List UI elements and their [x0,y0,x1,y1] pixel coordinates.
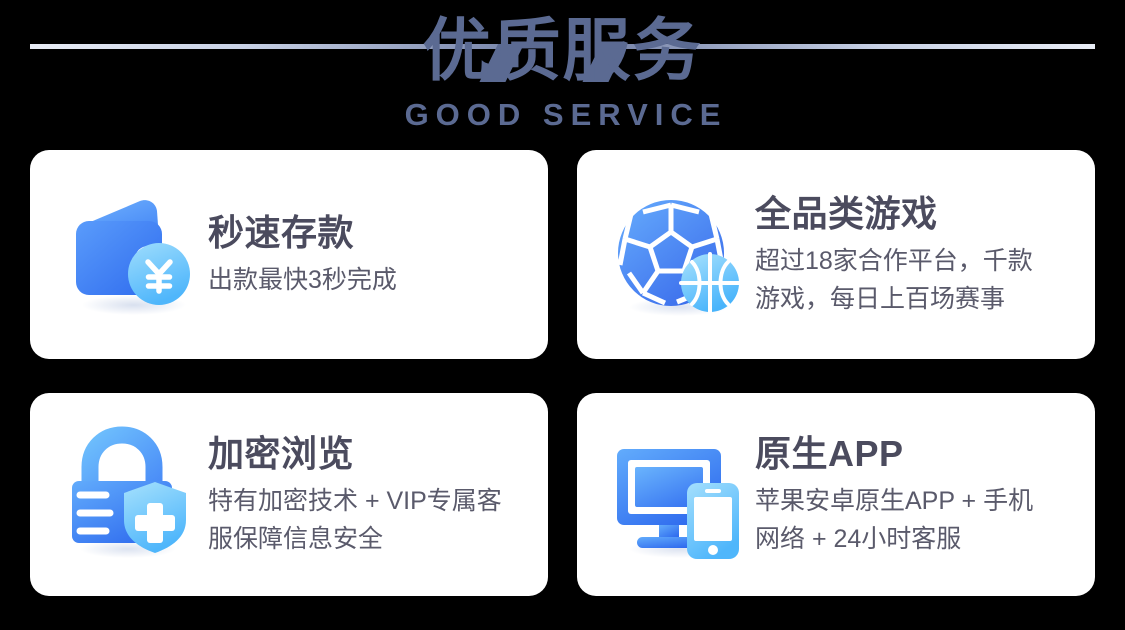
feature-card-description: 特有加密技术 + VIP专属客 服保障信息安全 [208,482,540,558]
description-line: 超过18家合作平台，千款 [755,242,1087,280]
feature-card-text: 原生APP 苹果安卓原生APP + 手机 网络 + 24小时客服 [749,432,1095,558]
promo-banner: 优质服务 GOOD SERVICE [0,0,1125,630]
description-line: 游戏，每日上百场赛事 [755,280,1087,318]
description-line: 服保障信息安全 [208,520,540,558]
feature-card-description: 超过18家合作平台，千款 游戏，每日上百场赛事 [755,242,1087,318]
feature-card-native-app[interactable]: 原生APP 苹果安卓原生APP + 手机 网络 + 24小时客服 [577,393,1095,596]
feature-card-title: 原生APP [755,432,1087,476]
description-line: 苹果安卓原生APP + 手机 [755,482,1087,520]
monitor-phone-icon [609,425,749,565]
feature-card-description: 苹果安卓原生APP + 手机 网络 + 24小时客服 [755,482,1087,558]
page-subtitle: GOOD SERVICE [0,97,1125,133]
feature-card-encryption[interactable]: 加密浏览 特有加密技术 + VIP专属客 服保障信息安全 [30,393,548,596]
feature-card-text: 加密浏览 特有加密技术 + VIP专属客 服保障信息安全 [202,432,548,558]
feature-card-title: 全品类游戏 [755,192,1087,236]
feature-card-text: 全品类游戏 超过18家合作平台，千款 游戏，每日上百场赛事 [749,192,1095,318]
feature-card-grid: 秒速存款 出款最快3秒完成 [30,150,1095,596]
header: 优质服务 GOOD SERVICE [0,0,1125,145]
description-line: 出款最快3秒完成 [208,261,532,299]
soccer-basketball-icon [609,185,749,325]
page-title: 优质服务 [0,12,1125,90]
feature-card-title: 秒速存款 [208,211,532,255]
feature-card-games[interactable]: 全品类游戏 超过18家合作平台，千款 游戏，每日上百场赛事 [577,150,1095,359]
wallet-yen-icon [62,185,202,325]
feature-card-title: 加密浏览 [208,432,540,476]
feature-card-text: 秒速存款 出款最快3秒完成 [202,211,548,299]
description-line: 网络 + 24小时客服 [755,520,1087,558]
feature-card-description: 出款最快3秒完成 [208,261,532,299]
feature-card-deposit[interactable]: 秒速存款 出款最快3秒完成 [30,150,548,359]
description-line: 特有加密技术 + VIP专属客 [208,482,540,520]
lock-shield-icon [62,425,202,565]
